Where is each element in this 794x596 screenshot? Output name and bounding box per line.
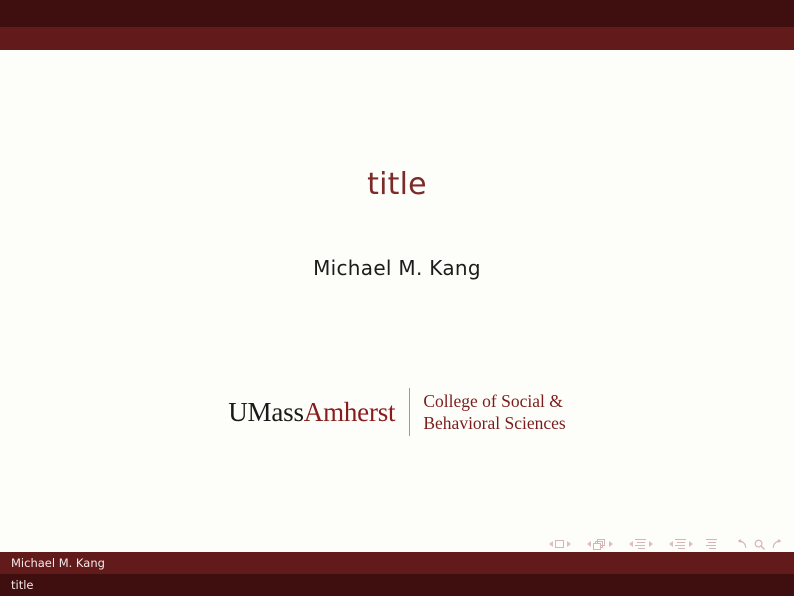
next-slide-icon[interactable] xyxy=(567,541,571,547)
slide-navigation-group[interactable] xyxy=(546,540,573,548)
next-subsection-icon[interactable] xyxy=(649,541,653,547)
previous-subsection-icon[interactable] xyxy=(629,541,633,547)
footer-author-bar: Michael M. Kang xyxy=(0,552,794,574)
document-icon[interactable] xyxy=(706,539,717,550)
header-band-top xyxy=(0,0,794,27)
subsection-icon[interactable] xyxy=(635,539,646,550)
page-title: title xyxy=(0,168,794,201)
title-block: title xyxy=(0,168,794,201)
logo-college-text: College of Social & Behavioral Sciences xyxy=(410,390,565,434)
logo-college-line-1: College of Social & xyxy=(423,390,565,412)
logo-inner: UMassAmherst College of Social & Behavio… xyxy=(228,388,566,436)
section-navigation-group[interactable] xyxy=(666,539,695,550)
frame-icon[interactable] xyxy=(593,539,606,550)
forward-arrow-icon[interactable] xyxy=(771,538,784,551)
slide-icon[interactable] xyxy=(555,540,564,548)
footer-title-text: title xyxy=(11,574,33,596)
beamer-navigation-symbols[interactable] xyxy=(546,536,784,552)
previous-section-icon[interactable] xyxy=(669,541,673,547)
previous-frame-icon[interactable] xyxy=(587,541,591,547)
footer-author-text: Michael M. Kang xyxy=(11,552,105,574)
history-navigation-group[interactable] xyxy=(735,538,784,551)
next-section-icon[interactable] xyxy=(689,541,693,547)
back-arrow-icon[interactable] xyxy=(735,538,748,551)
umass-amherst-logo: UMassAmherst College of Social & Behavio… xyxy=(0,388,794,436)
frame-navigation-group[interactable] xyxy=(584,539,615,550)
search-icon[interactable] xyxy=(753,538,766,551)
logo-wordmark: UMassAmherst xyxy=(228,397,409,428)
header-band-mid xyxy=(0,27,794,50)
next-frame-icon[interactable] xyxy=(609,541,613,547)
subsection-navigation-group[interactable] xyxy=(626,539,655,550)
author-block: Michael M. Kang xyxy=(0,256,794,280)
logo-umass-text: UMass xyxy=(228,397,304,427)
section-icon[interactable] xyxy=(675,539,686,550)
logo-amherst-text: Amherst xyxy=(304,397,396,427)
presentation-slide: title Michael M. Kang UMassAmherst Colle… xyxy=(0,0,794,596)
author-name: Michael M. Kang xyxy=(0,256,794,280)
footer-title-bar: title xyxy=(0,574,794,596)
previous-slide-icon[interactable] xyxy=(549,541,553,547)
document-navigation-group[interactable] xyxy=(706,539,717,550)
logo-college-line-2: Behavioral Sciences xyxy=(423,412,565,434)
